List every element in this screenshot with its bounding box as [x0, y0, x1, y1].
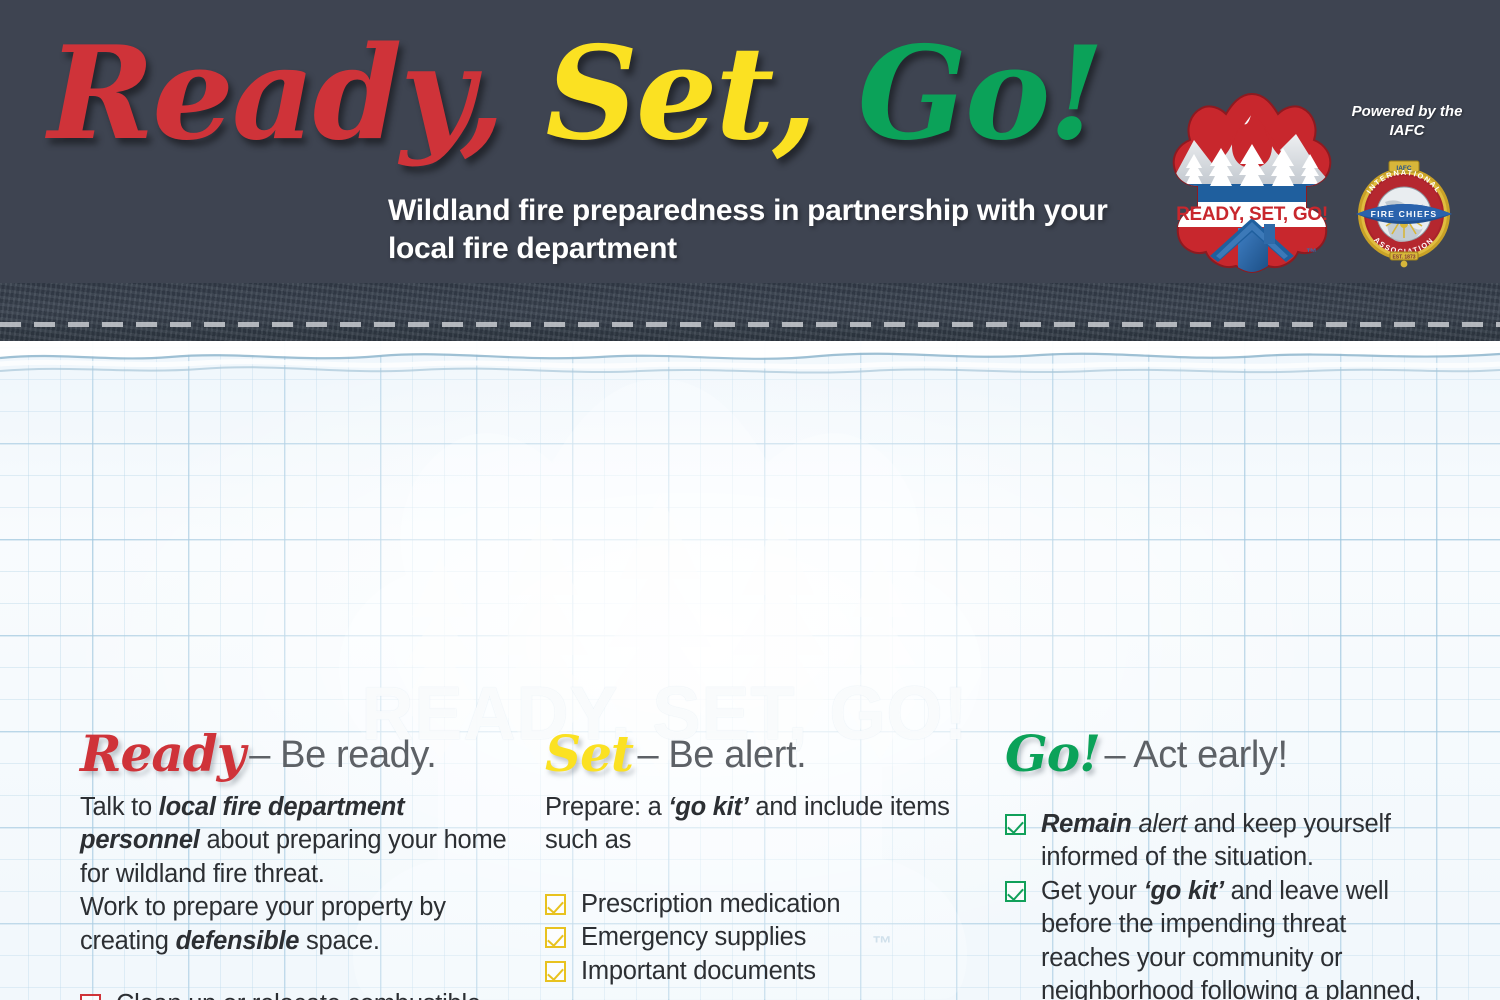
emphasis-italic: alert [1138, 810, 1186, 838]
column-set: Set – Be alert.Prepare: a ‘go kit’ and i… [545, 729, 965, 1000]
checklist-item[interactable]: Emergency supplies [545, 921, 965, 954]
checkbox-checked-icon[interactable] [545, 927, 566, 948]
svg-text:EST. 1873: EST. 1873 [1392, 255, 1415, 261]
column-tagline-ready: – Be ready. [249, 734, 436, 776]
checklist-set: Prescription medicationEmergency supplie… [545, 888, 965, 988]
emphasis-bold: ‘go kit’ [668, 793, 748, 821]
checklist-ready: Clean up or relocate combustible materia… [80, 988, 510, 1000]
spacer [545, 858, 965, 888]
emphasis-bold: Remain [1041, 810, 1132, 838]
column-keyword-set: Set [545, 724, 633, 783]
spacer [545, 988, 965, 1000]
ready-set-go-shield-logo: READY, SET, GO! [1168, 88, 1336, 273]
svg-text:READY, SET, GO!: READY, SET, GO! [1176, 204, 1328, 225]
checklist-go: Remain alert and keep yourself informed … [1005, 808, 1435, 1000]
column-heading-set: Set – Be alert. [545, 729, 965, 791]
intro-paragraph: Talk to local fire department personnel … [80, 791, 510, 891]
header-subtitle: Wildland fire preparedness in partnershi… [388, 192, 1148, 268]
text-run: Get your [1041, 877, 1144, 905]
text-run: Prepare: a [545, 793, 668, 821]
column-go: Go! – Act early!Remain alert and keep yo… [1005, 729, 1435, 1000]
iafc-seal: IAFC INTERNATIONAL ASSOCIATION FIRE CHIE… [1349, 152, 1459, 270]
checkbox-checked-icon[interactable] [545, 961, 566, 982]
text-run: Talk to [80, 793, 159, 821]
column-tagline-set: – Be alert. [637, 734, 806, 776]
column-ready: Ready – Be ready.Talk to local fire depa… [80, 729, 510, 1000]
svg-text:FIRE CHIEFS: FIRE CHIEFS [1371, 209, 1438, 219]
textured-divider-band [0, 283, 1500, 341]
text-run: Emergency supplies [581, 923, 806, 951]
checklist-item[interactable]: Important documents [545, 955, 965, 988]
intro-paragraph: Work to prepare your property by creatin… [80, 891, 510, 958]
emphasis-bold: defensible [176, 927, 300, 955]
powered-by-label: Powered by the IAFC [1347, 103, 1467, 141]
poster-header: Ready, Set, Go! Wildland fire preparedne… [0, 0, 1500, 285]
brand-word-ready: Ready, [48, 19, 503, 169]
emphasis-bold: ‘go kit’ [1144, 877, 1224, 905]
column-keyword-ready: Ready [80, 724, 245, 783]
column-heading-go: Go! – Act early! [1005, 729, 1435, 791]
spacer [80, 958, 510, 988]
checklist-item[interactable]: Clean up or relocate combustible materia… [80, 988, 510, 1000]
column-tagline-go: – Act early! [1104, 734, 1287, 776]
infographic-poster: Ready, Set, Go! Wildland fire preparedne… [0, 0, 1500, 1000]
torn-paper-edge [0, 341, 1500, 387]
spacer [1005, 791, 1435, 808]
column-heading-ready: Ready – Be ready. [80, 729, 510, 791]
checkbox-checked-icon[interactable] [1005, 814, 1026, 835]
brand-word-set: Set, [546, 19, 816, 169]
text-run: Important documents [581, 957, 816, 985]
text-run: Clean up or relocate combustible materia… [116, 990, 481, 1000]
column-keyword-go: Go! [1005, 724, 1100, 783]
brand-word-go: Go! [858, 19, 1103, 169]
text-run: space. [299, 927, 379, 955]
brand-wordmark: Ready, Set, Go! [48, 30, 1103, 158]
intro-paragraph: Prepare: a ‘go kit’ and include items su… [545, 791, 965, 858]
logo-trademark-symbol: ™ [1306, 247, 1317, 259]
checkbox-checked-icon[interactable] [545, 894, 566, 915]
checklist-item[interactable]: Get your ‘go kit’ and leave well before … [1005, 875, 1435, 1000]
checklist-item[interactable]: Remain alert and keep yourself informed … [1005, 808, 1435, 875]
text-run: Prescription medication [581, 890, 840, 918]
checkbox-checked-icon[interactable] [80, 994, 101, 1000]
checkbox-checked-icon[interactable] [1005, 881, 1026, 902]
dashed-center-line [0, 322, 1500, 327]
graph-paper-area: READY, SET, GO! ™ Ready – Be ready.Talk … [0, 341, 1500, 1000]
checklist-item[interactable]: Prescription medication [545, 888, 965, 921]
